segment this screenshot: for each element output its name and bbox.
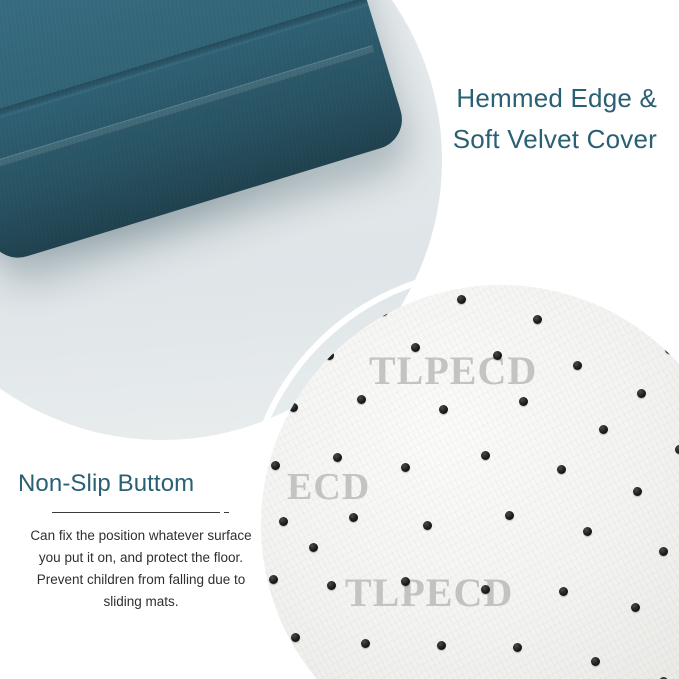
feature-block: Non-Slip Buttom Can fix the position wha… bbox=[16, 470, 266, 612]
headline: Hemmed Edge & Soft Velvet Cover bbox=[453, 78, 657, 160]
non-slip-dots bbox=[261, 285, 679, 679]
feature-description-line-1: Can fix the position whatever surface bbox=[16, 525, 266, 547]
feature-description: Can fix the position whatever surface yo… bbox=[16, 525, 266, 612]
feature-divider bbox=[52, 512, 220, 513]
headline-line-1: Hemmed Edge & bbox=[453, 78, 657, 119]
feature-description-line-3: Prevent children from falling due to bbox=[16, 569, 266, 591]
feature-description-line-2: you put it on, and protect the floor. bbox=[16, 547, 266, 569]
feature-title: Non-Slip Buttom bbox=[16, 470, 266, 498]
product-infographic: TLPECD ECD TLPECD bbox=[0, 0, 679, 679]
non-slip-mat-photo: TLPECD ECD TLPECD bbox=[261, 285, 679, 679]
feature-description-line-4: sliding mats. bbox=[16, 591, 266, 613]
headline-line-2: Soft Velvet Cover bbox=[453, 119, 657, 160]
